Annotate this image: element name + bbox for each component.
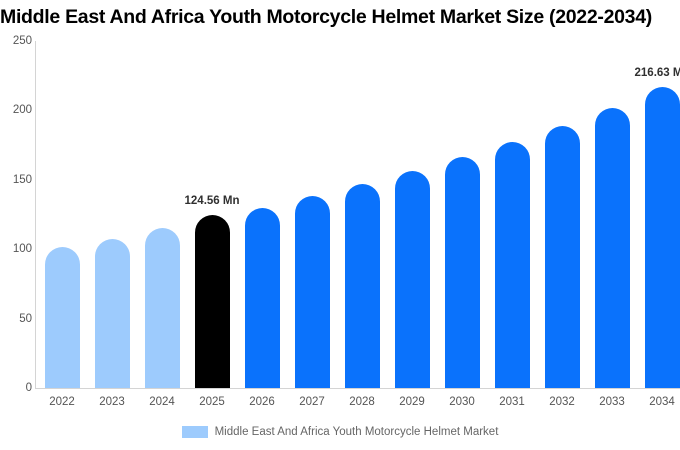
bar-column [595,41,630,388]
data-label-2025: 124.56 Mn [185,195,240,207]
y-axis-tick-label: 200 [2,104,32,116]
bar-column [545,41,580,388]
x-axis-tick-label-2032: 2032 [549,396,575,408]
x-axis-tick-label-2034: 2034 [649,396,675,408]
bar-column [495,41,530,388]
bar-column [445,41,480,388]
y-axis-tick-label: 50 [2,313,32,325]
bar-2030[interactable] [445,157,480,388]
bar-column [645,41,680,388]
x-axis-tick-label-2026: 2026 [249,396,275,408]
bar-column [95,41,130,388]
bar-2029[interactable] [395,171,430,388]
x-axis-tick-label-2031: 2031 [499,396,525,408]
x-axis-tick-label-2022: 2022 [49,396,75,408]
bar-2031[interactable] [495,142,530,388]
bar-2023[interactable] [95,239,130,388]
bar-2026[interactable] [245,208,280,388]
chart-title: Middle East And Africa Youth Motorcycle … [0,2,680,32]
x-axis-tick-label-2030: 2030 [449,396,475,408]
y-axis-tick-label: 0 [2,382,32,394]
chart-legend[interactable]: Middle East And Africa Youth Motorcycle … [0,426,680,438]
legend-swatch-market [182,426,208,438]
bar-2033[interactable] [595,108,630,388]
y-axis-tick-label: 150 [2,174,32,186]
x-axis-tick-label-2027: 2027 [299,396,325,408]
bar-2024[interactable] [145,228,180,388]
data-label-2034: 216.63 Mn [635,67,680,79]
y-axis-tick-label: 250 [2,35,32,47]
bar-2027[interactable] [295,196,330,388]
bar-column [45,41,80,388]
bar-2022[interactable] [45,247,80,388]
bar-column [345,41,380,388]
x-axis-tick-label-2025: 2025 [199,396,225,408]
y-axis-tick-label: 100 [2,243,32,255]
plot-area [35,41,680,388]
bar-2032[interactable] [545,126,580,388]
legend-label-market: Middle East And Africa Youth Motorcycle … [215,426,499,438]
bar-column [395,41,430,388]
y-axis: 050100150200250 [0,0,32,450]
bar-column [145,41,180,388]
bar-column [245,41,280,388]
bar-2034[interactable] [645,87,680,388]
x-axis-tick-label-2029: 2029 [399,396,425,408]
bar-chart: Middle East And Africa Youth Motorcycle … [0,0,680,450]
x-axis-tick-label-2023: 2023 [99,396,125,408]
x-axis-line [35,388,680,389]
bar-column [295,41,330,388]
x-axis-tick-label-2033: 2033 [599,396,625,408]
bar-2028[interactable] [345,184,380,388]
x-axis-tick-label-2024: 2024 [149,396,175,408]
bar-column [195,41,230,388]
bar-2025[interactable] [195,215,230,388]
x-axis-tick-label-2028: 2028 [349,396,375,408]
